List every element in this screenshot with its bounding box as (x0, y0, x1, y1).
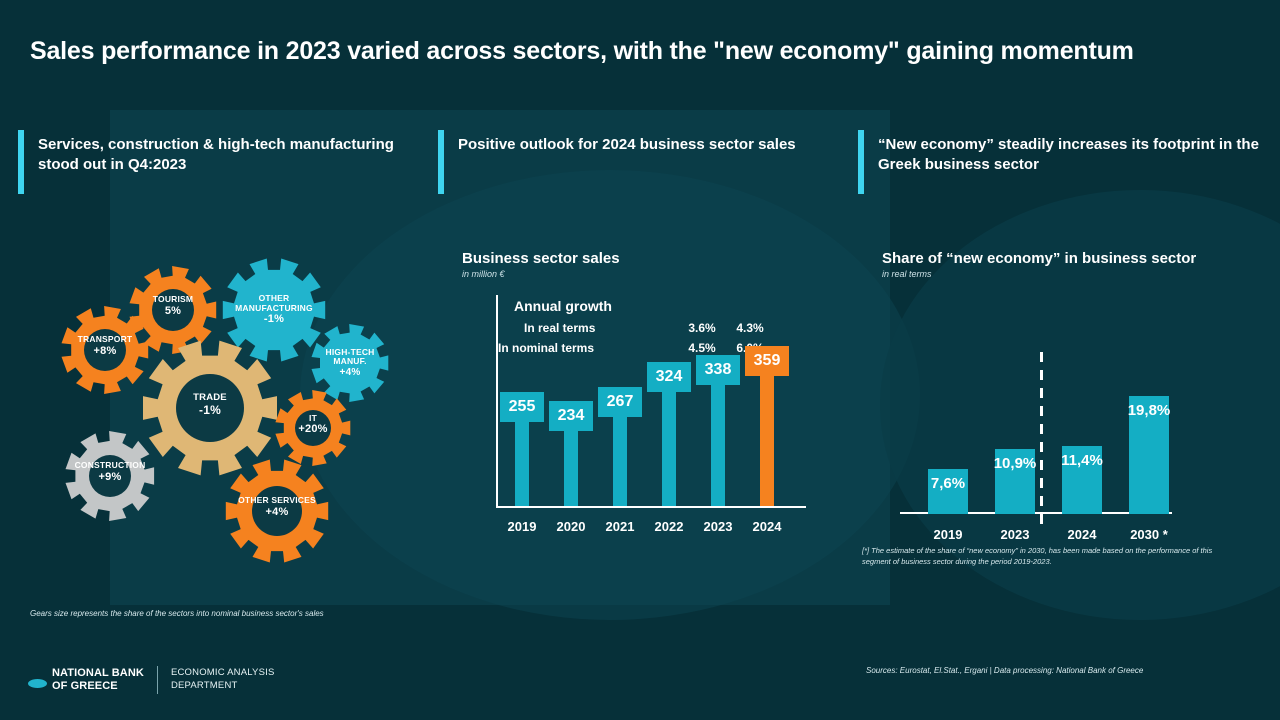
department-line1: ECONOMIC ANALYSIS (171, 667, 275, 678)
gear-label: CONSTRUCTION+9% (63, 461, 157, 483)
bar-2023[interactable]: 10,9%2023 (995, 449, 1035, 514)
x-tick-label: 2022 (642, 519, 696, 534)
bar-2021[interactable]: 2672021 (613, 388, 627, 506)
annual-growth-real-2024: 4.3% (726, 321, 774, 335)
x-tick-label: 2020 (544, 519, 598, 534)
bar-2023[interactable]: 3382023 (711, 356, 725, 506)
x-tick-label: 2024 (740, 519, 794, 534)
bar-2022[interactable]: 3242022 (662, 363, 676, 506)
gear-label: TRANSPORT+8% (59, 335, 151, 357)
gear-diagram: TRANSPORT+8%TOURISM5%OTHER MANUFACTURING… (55, 255, 400, 555)
gear-sector-name: HIGH-TECH MANUF. (321, 348, 379, 367)
gear-sector-name: OTHER MANUFACTURING (226, 294, 322, 313)
chart-mid-x-axis (496, 506, 806, 508)
bar-value-label: 19,8% (1120, 402, 1178, 419)
annual-growth-nominal-2023: 4.5% (678, 341, 726, 355)
annual-growth-title: Annual growth (498, 298, 818, 314)
bar-value-label: 338 (696, 355, 740, 385)
x-tick-label: 2019 (916, 527, 980, 542)
gear-sector-value: +20% (287, 423, 339, 435)
gear-label: TOURISM5% (133, 295, 213, 317)
chart-mid-y-axis (496, 295, 498, 507)
chart-right-title: Share of “new economy” in business secto… (882, 250, 1242, 267)
table-row: In real terms 3.6% 4.3% (498, 321, 818, 335)
page-title: Sales performance in 2023 varied across … (30, 36, 1150, 68)
gear-label: TRADE-1% (168, 393, 252, 417)
gear-sector-value: +4% (321, 367, 379, 378)
gear-sector-value: 5% (133, 305, 213, 317)
x-tick-label: 2021 (593, 519, 647, 534)
gear-sector-name: TRADE (168, 393, 252, 404)
gear-sector-name: TOURISM (133, 295, 213, 305)
department-text: ECONOMIC ANALYSIS DEPARTMENT (171, 667, 275, 693)
gear-diagram-note: Gears size represents the share of the s… (30, 609, 324, 618)
x-tick-label: 2023 (691, 519, 745, 534)
department-line2: DEPARTMENT (171, 680, 238, 691)
section-accent-bar-3 (858, 130, 864, 194)
bar-2024[interactable]: 3592024 (760, 347, 774, 506)
gear-sector-name: CONSTRUCTION (63, 461, 157, 471)
x-tick-label: 2024 (1050, 527, 1114, 542)
section-heading-3: “New economy” steadily increases its foo… (878, 135, 1278, 175)
bar-value-label: 11,4% (1053, 452, 1111, 469)
bar-2019[interactable]: 7,6%2019 (928, 469, 968, 514)
nbg-logo: NATIONAL BANK OF GREECE ECONOMIC ANALYSI… (28, 666, 274, 694)
gear-it[interactable]: IT+20% (273, 388, 353, 468)
section-accent-bar-2 (438, 130, 444, 194)
bar-value-label: 7,6% (919, 475, 977, 492)
annual-growth-nominal-label: In nominal terms (498, 341, 678, 355)
chart-business-sector-sales: Business sector sales in million € Annua… (462, 250, 822, 540)
chart-mid-title: Business sector sales (462, 250, 822, 267)
x-tick-label: 2030 * (1117, 527, 1181, 542)
logo-divider (157, 666, 158, 694)
gear-sector-value: +4% (224, 506, 330, 518)
gear-other-services[interactable]: OTHER SERVICES+4% (223, 457, 331, 565)
bar-value-label: 10,9% (986, 455, 1044, 472)
nbg-logo-text: NATIONAL BANK OF GREECE (28, 667, 144, 694)
gear-sector-name: IT (287, 414, 339, 424)
annual-growth-real-2023: 3.6% (678, 321, 726, 335)
bar-2019[interactable]: 2552019 (515, 393, 529, 506)
gear-sector-value: +8% (59, 345, 151, 357)
gear-construction[interactable]: CONSTRUCTION+9% (63, 429, 157, 523)
nbg-oval-icon (28, 679, 47, 688)
gear-sector-value: +9% (63, 471, 157, 483)
gear-label: OTHER SERVICES+4% (224, 496, 330, 518)
bar-value-label: 324 (647, 362, 691, 392)
gear-sector-name: TRANSPORT (59, 335, 151, 345)
bar-2020[interactable]: 2342020 (564, 402, 578, 506)
section-heading-2: Positive outlook for 2024 business secto… (458, 135, 858, 155)
chart-right-subtitle: in real terms (882, 269, 1242, 279)
gear-label: HIGH-TECH MANUF.+4% (321, 348, 379, 378)
chart-share-new-economy: Share of “new economy” in business secto… (882, 250, 1242, 550)
x-tick-label: 2019 (495, 519, 549, 534)
chart-mid-subtitle: in million € (462, 269, 822, 279)
gear-sector-name: OTHER SERVICES (224, 496, 330, 506)
section-accent-bar-1 (18, 130, 24, 194)
gear-label: OTHER MANUFACTURING-1% (226, 294, 322, 325)
annual-growth-real-label: In real terms (498, 321, 678, 335)
gear-sector-value: -1% (226, 313, 322, 325)
gear-label: IT+20% (287, 414, 339, 436)
section-header-2: Positive outlook for 2024 business secto… (438, 130, 838, 194)
bar-value-label: 359 (745, 346, 789, 376)
chart-right-footnote: [*] The estimate of the share of “new ec… (862, 546, 1222, 568)
section-header-3: “New economy” steadily increases its foo… (858, 130, 1258, 194)
section-header-1: Services, construction & high-tech manuf… (18, 130, 418, 194)
bar-2024[interactable]: 11,4%2024 (1062, 446, 1102, 514)
forecast-divider-line (1040, 352, 1043, 530)
bar-value-label: 234 (549, 401, 593, 431)
bar-2030[interactable]: 19,8%2030 * (1129, 396, 1169, 514)
nbg-logo-line1: NATIONAL BANK (52, 667, 144, 679)
sources-line: Sources: Eurostat, El.Stat., Ergani | Da… (866, 666, 1143, 675)
bar-value-label: 267 (598, 387, 642, 417)
section-heading-1: Services, construction & high-tech manuf… (38, 135, 438, 175)
gear-sector-value: -1% (168, 404, 252, 417)
nbg-logo-line2: OF GREECE (52, 680, 118, 692)
bar-value-label: 255 (500, 392, 544, 422)
x-tick-label: 2023 (983, 527, 1047, 542)
